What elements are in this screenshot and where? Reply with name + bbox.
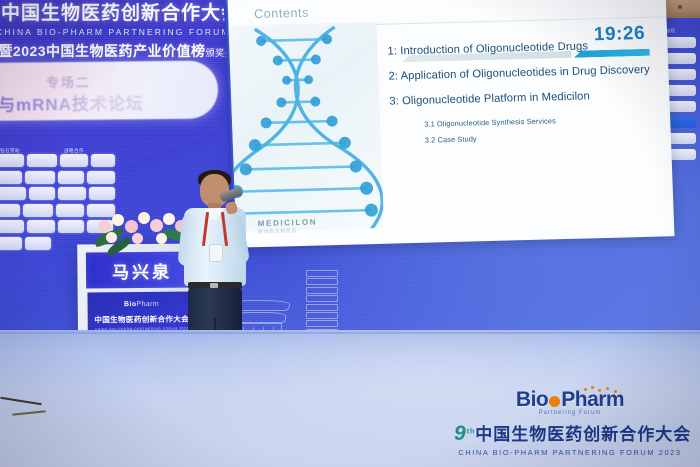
brand-title-en: CHINA BIO-PHARM PARTNERING FORUM 2023 [454, 448, 686, 457]
toc-item: 1: Introduction of Oligonucleotide Drugs [387, 39, 659, 59]
session-banner: 专场二 RNA疗法与mRNA技术论坛 [0, 60, 218, 121]
sponsor-row [0, 171, 126, 184]
backdrop-event-title: 中国生物医药创新合作大会 CHINA BIO-PHARM PARTNERING … [0, 0, 246, 58]
speaker-name: 马兴泉 [112, 257, 172, 283]
session-line1: 专场二 [46, 72, 91, 91]
brand-name: BioPharm [454, 388, 686, 412]
medicilon-name: MEDICILON [258, 218, 318, 229]
toc-subitem: 3.1 Oligonucleotide Synthesis Services [424, 113, 662, 128]
toc-item: 2: Application of Oligonucleotides in Dr… [388, 63, 660, 83]
event-subtitle-cn: 暨2023中国生物医药产业价值榜颁奖盛典 [0, 41, 246, 61]
medicilon-watermark: MEDICILON 美迪西生物医药 [258, 218, 318, 236]
slide-contents-label: Contents [254, 6, 309, 21]
event-title-en: CHINA BIO-PHARM PARTNERING FORUM 2023 [0, 27, 246, 37]
floor-backdrop-seam [0, 332, 700, 334]
brand-dots-icon [584, 386, 624, 396]
session-line2: RNA疗法与mRNA技术论坛 [0, 89, 144, 116]
sponsor-row [0, 187, 126, 200]
sponsor-row [0, 154, 126, 167]
toc-subitem: 3.2 Case Study [425, 129, 663, 144]
medicilon-name-cn: 美迪西生物医药 [258, 228, 317, 236]
speaker-badge [209, 244, 223, 262]
event-title-cn: 中国生物医药创新合作大会 [0, 0, 246, 25]
slide-table-of-contents: 1: Introduction of Oligonucleotide Drugs… [387, 39, 663, 153]
toc-item: 3: Oligonucleotide Platform in Medicilon [389, 88, 661, 108]
brand-title-cn: 9th中国生物医药创新合作大会 [454, 420, 686, 446]
conference-photo-scene: 中国生物医药创新合作大会 CHINA BIO-PHARM PARTNERING … [0, 0, 700, 467]
presentation-screen: Contents 19:26 [227, 0, 674, 248]
event-brand-lockup: BioPharm Partnering Forum 9th中国生物医药创新合作大… [454, 388, 686, 457]
brand-tagline: Partnering Forum [454, 410, 686, 416]
